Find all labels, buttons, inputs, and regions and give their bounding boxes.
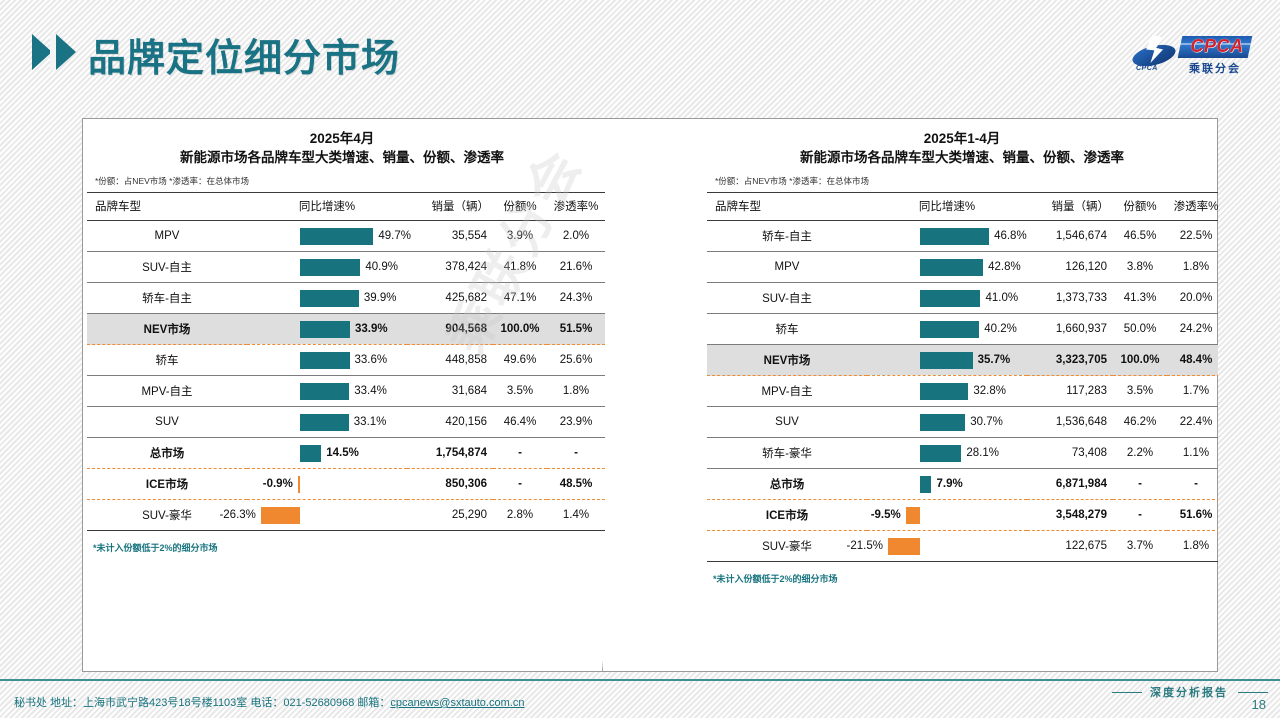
table-footnote: *未计入份额低于2%的细分市场 (87, 531, 597, 554)
table-row: SUV-豪华-26.3%25,2902.8%1.4% (87, 500, 605, 531)
col-header-growth: 同比增速% (247, 193, 407, 221)
cell-growth-bar: 35.7% (867, 345, 1027, 376)
cell-growth-bar: -9.5% (867, 500, 1027, 531)
page-title: 品牌定位细分市场 (88, 27, 400, 82)
cell-volume: 425,682 (407, 283, 493, 314)
cell-share: 3.5% (493, 376, 547, 407)
cell-penetration: 22.5% (1167, 221, 1225, 252)
growth-value-label: 14.5% (326, 446, 359, 461)
growth-value-label: 40.9% (365, 260, 398, 275)
cell-volume: 850,306 (407, 469, 493, 500)
table-note: *份额：占NEV市场 *渗透率：在总体市场 (707, 167, 1217, 192)
cell-volume: 3,323,705 (1027, 345, 1113, 376)
growth-bar (920, 321, 979, 338)
growth-bar (906, 507, 920, 524)
table-row: SUV33.1%420,15646.4%23.9% (87, 407, 605, 438)
cell-penetration: 23.9% (547, 407, 605, 438)
cell-penetration: 1.1% (1167, 438, 1225, 469)
cell-growth-bar: 28.1% (867, 438, 1027, 469)
cell-growth-bar: 30.7% (867, 407, 1027, 438)
growth-value-label: 41.0% (985, 291, 1018, 306)
cell-share: 2.2% (1113, 438, 1167, 469)
growth-value-label: 46.8% (994, 229, 1027, 244)
growth-bar (300, 290, 359, 307)
col-header-volume: 销量（辆） (1027, 193, 1113, 221)
card-april-2025: 2025年4月 新能源市场各品牌车型大类增速、销量、份额、渗透率 *份额：占NE… (82, 118, 698, 672)
cell-penetration: 24.2% (1167, 314, 1225, 345)
cell-volume: 420,156 (407, 407, 493, 438)
growth-value-label: 40.2% (984, 322, 1017, 337)
table-row: SUV-自主40.9%378,42441.8%21.6% (87, 252, 605, 283)
cell-volume: 3,548,279 (1027, 500, 1113, 531)
cell-share: - (493, 469, 547, 500)
footer-email-link[interactable]: cpcanews@sxtauto.com.cn (390, 697, 524, 709)
cell-growth-bar: -0.9% (247, 469, 407, 500)
cell-share: 2.8% (493, 500, 547, 531)
growth-bar (920, 476, 932, 493)
cell-share: 49.6% (493, 345, 547, 376)
cell-model-name: NEV市场 (707, 345, 867, 376)
table-row: 总市场7.9%6,871,984-- (707, 469, 1225, 500)
growth-bar (298, 476, 300, 493)
table-row: MPV49.7%35,5543.9%2.0% (87, 221, 605, 252)
cell-volume: 126,120 (1027, 252, 1113, 283)
table-row: 轿车33.6%448,85849.6%25.6% (87, 345, 605, 376)
table-row: SUV-豪华-21.5%122,6753.7%1.8% (707, 531, 1225, 562)
cell-growth-bar: 40.2% (867, 314, 1027, 345)
cell-share: 46.5% (1113, 221, 1167, 252)
cell-penetration: 1.8% (547, 376, 605, 407)
table-row: 总市场14.5%1,754,874-- (87, 438, 605, 469)
growth-bar (300, 228, 374, 245)
growth-bar (300, 445, 321, 462)
page-number: 18 (1252, 697, 1266, 712)
cell-share: 3.8% (1113, 252, 1167, 283)
col-header-name: 品牌车型 (707, 193, 867, 221)
cpca-logo-mark-sub: CPCA (1136, 65, 1158, 72)
market-table-april: 品牌车型 同比增速% 销量（辆） 份额% 渗透率% MPV49.7%35,554… (87, 192, 605, 531)
table-row: MPV-自主32.8%117,2833.5%1.7% (707, 376, 1225, 407)
card-jan-apr-2025: 2025年1-4月 新能源市场各品牌车型大类增速、销量、份额、渗透率 *份额：占… (602, 118, 1218, 672)
cell-growth-bar: 33.9% (247, 314, 407, 345)
footer-contact-text: 秘书处 地址：上海市武宁路423号18号楼1103室 电话：021-526809… (14, 697, 390, 709)
cell-share: 3.5% (1113, 376, 1167, 407)
table-header-row: 品牌车型 同比增速% 销量（辆） 份额% 渗透率% (707, 193, 1225, 221)
growth-bar (920, 414, 965, 431)
cell-share: 3.9% (493, 221, 547, 252)
cell-model-name: SUV-自主 (87, 252, 247, 283)
cell-model-name: MPV (87, 221, 247, 252)
cell-growth-bar: 33.4% (247, 376, 407, 407)
growth-value-label: 49.7% (378, 229, 411, 244)
cell-share: 41.8% (493, 252, 547, 283)
cell-model-name: 轿车 (707, 314, 867, 345)
growth-value-label: 28.1% (966, 446, 999, 461)
cell-penetration: 1.8% (1167, 252, 1225, 283)
table-title-line2: 新能源市场各品牌车型大类增速、销量、份额、渗透率 (87, 148, 597, 167)
footer-brand: 深度分析报告 (1150, 684, 1228, 700)
cell-volume: 1,660,937 (1027, 314, 1113, 345)
col-header-penetration: 渗透率% (1167, 193, 1225, 221)
cell-volume: 117,283 (1027, 376, 1113, 407)
cell-share: 100.0% (1113, 345, 1167, 376)
cell-volume: 6,871,984 (1027, 469, 1113, 500)
cell-model-name: 轿车-自主 (707, 221, 867, 252)
col-header-growth: 同比增速% (867, 193, 1027, 221)
cell-penetration: 21.6% (547, 252, 605, 283)
cell-growth-bar: 42.8% (867, 252, 1027, 283)
cell-model-name: 轿车-自主 (87, 283, 247, 314)
growth-value-label: 39.9% (364, 291, 397, 306)
cpca-logo-mark-icon: CPCA (1132, 35, 1176, 73)
growth-bar (300, 321, 350, 338)
growth-value-label: 33.4% (354, 384, 387, 399)
cell-model-name: SUV-自主 (707, 283, 867, 314)
growth-bar (300, 414, 349, 431)
cell-model-name: NEV市场 (87, 314, 247, 345)
col-header-name: 品牌车型 (87, 193, 247, 221)
cell-volume: 378,424 (407, 252, 493, 283)
table-row: MPV42.8%126,1203.8%1.8% (707, 252, 1225, 283)
cell-growth-bar: 41.0% (867, 283, 1027, 314)
col-header-share: 份额% (493, 193, 547, 221)
growth-bar (888, 538, 920, 555)
table-row: ICE市场-9.5%3,548,279-51.6% (707, 500, 1225, 531)
cell-penetration: 51.5% (547, 314, 605, 345)
cell-penetration: 1.4% (547, 500, 605, 531)
table-title-line2: 新能源市场各品牌车型大类增速、销量、份额、渗透率 (707, 148, 1217, 167)
cell-volume: 1,536,648 (1027, 407, 1113, 438)
cell-growth-bar: 46.8% (867, 221, 1027, 252)
cell-volume: 31,684 (407, 376, 493, 407)
cell-growth-bar: 7.9% (867, 469, 1027, 500)
cell-model-name: 总市场 (707, 469, 867, 500)
cell-model-name: MPV-自主 (707, 376, 867, 407)
table-row: 轿车-自主39.9%425,68247.1%24.3% (87, 283, 605, 314)
cell-share: 46.4% (493, 407, 547, 438)
cell-growth-bar: 14.5% (247, 438, 407, 469)
cell-share: - (493, 438, 547, 469)
growth-bar (920, 228, 989, 245)
growth-value-label: 30.7% (970, 415, 1003, 430)
cell-volume: 904,568 (407, 314, 493, 345)
market-table-jan-apr: 品牌车型 同比增速% 销量（辆） 份额% 渗透率% 轿车-自主46.8%1,54… (707, 192, 1225, 562)
table-row: SUV-自主41.0%1,373,73341.3%20.0% (707, 283, 1225, 314)
growth-value-label: 33.6% (355, 353, 388, 368)
cell-model-name: MPV (707, 252, 867, 283)
cell-share: - (1113, 469, 1167, 500)
table-title-line1: 2025年1-4月 (707, 119, 1217, 148)
cell-penetration: 48.4% (1167, 345, 1225, 376)
growth-value-label: -0.9% (263, 477, 293, 492)
cell-penetration: 2.0% (547, 221, 605, 252)
growth-bar (920, 352, 973, 369)
cell-growth-bar: 33.6% (247, 345, 407, 376)
cell-growth-bar: 33.1% (247, 407, 407, 438)
table-row: 轿车-自主46.8%1,546,67446.5%22.5% (707, 221, 1225, 252)
table-body-jan-apr: 轿车-自主46.8%1,546,67446.5%22.5%MPV42.8%126… (707, 221, 1225, 562)
cell-volume: 1,754,874 (407, 438, 493, 469)
growth-value-label: 35.7% (978, 353, 1011, 368)
growth-bar (920, 445, 962, 462)
cell-penetration: 25.6% (547, 345, 605, 376)
cell-growth-bar: 49.7% (247, 221, 407, 252)
growth-bar (920, 383, 969, 400)
cell-volume: 122,675 (1027, 531, 1113, 562)
cell-share: - (1113, 500, 1167, 531)
cell-model-name: SUV (707, 407, 867, 438)
growth-value-label: 33.9% (355, 322, 388, 337)
table-header-row: 品牌车型 同比增速% 销量（辆） 份额% 渗透率% (87, 193, 605, 221)
cell-model-name: 轿车 (87, 345, 247, 376)
cell-model-name: ICE市场 (707, 500, 867, 531)
cell-volume: 35,554 (407, 221, 493, 252)
growth-value-label: 33.1% (354, 415, 387, 430)
footer-contact: 秘书处 地址：上海市武宁路423号18号楼1103室 电话：021-526809… (14, 694, 524, 710)
cell-model-name: 总市场 (87, 438, 247, 469)
cpca-logo-chinese-name: 乘联分会 (1180, 60, 1250, 76)
cell-model-name: SUV (87, 407, 247, 438)
growth-value-label: -21.5% (847, 539, 883, 554)
growth-value-label: -9.5% (871, 508, 901, 523)
growth-bar (261, 507, 300, 524)
cell-penetration: 20.0% (1167, 283, 1225, 314)
cell-penetration: 1.7% (1167, 376, 1225, 407)
table-row: ICE市场-0.9%850,306-48.5% (87, 469, 605, 500)
cell-volume: 448,858 (407, 345, 493, 376)
footer-divider (0, 679, 1280, 681)
table-title-line1: 2025年4月 (87, 119, 597, 148)
cell-share: 100.0% (493, 314, 547, 345)
growth-bar (300, 383, 349, 400)
growth-bar (920, 259, 983, 276)
cell-penetration: - (547, 438, 605, 469)
table-body-april: MPV49.7%35,5543.9%2.0%SUV-自主40.9%378,424… (87, 221, 605, 531)
growth-value-label: 42.8% (988, 260, 1021, 275)
cell-share: 3.7% (1113, 531, 1167, 562)
cell-growth-bar: -26.3% (247, 500, 407, 531)
table-row: MPV-自主33.4%31,6843.5%1.8% (87, 376, 605, 407)
cell-share: 41.3% (1113, 283, 1167, 314)
cell-growth-bar: -21.5% (867, 531, 1027, 562)
table-row: 轿车40.2%1,660,93750.0%24.2% (707, 314, 1225, 345)
growth-value-label: 7.9% (936, 477, 962, 492)
cell-share: 47.1% (493, 283, 547, 314)
col-header-share: 份额% (1113, 193, 1167, 221)
cell-volume: 25,290 (407, 500, 493, 531)
cell-volume: 73,408 (1027, 438, 1113, 469)
slide-header: 品牌定位细分市场 CPCA CPCA 乘联分会 (0, 0, 1280, 92)
cell-share: 46.2% (1113, 407, 1167, 438)
col-header-penetration: 渗透率% (547, 193, 605, 221)
growth-bar (920, 290, 981, 307)
col-header-volume: 销量（辆） (407, 193, 493, 221)
double-chevron-right-icon (32, 34, 90, 70)
cpca-logo: CPCA CPCA 乘联分会 (1132, 33, 1250, 77)
growth-bar (300, 352, 350, 369)
cell-penetration: 1.8% (1167, 531, 1225, 562)
cell-penetration: 24.3% (547, 283, 605, 314)
cell-share: 50.0% (1113, 314, 1167, 345)
growth-bar (300, 259, 361, 276)
cell-model-name: ICE市场 (87, 469, 247, 500)
cell-model-name: 轿车-豪华 (707, 438, 867, 469)
table-note: *份额：占NEV市场 *渗透率：在总体市场 (87, 167, 597, 192)
growth-value-label: -26.3% (219, 508, 255, 523)
cell-penetration: 48.5% (547, 469, 605, 500)
cell-penetration: 51.6% (1167, 500, 1225, 531)
table-row: SUV30.7%1,536,64846.2%22.4% (707, 407, 1225, 438)
cell-volume: 1,373,733 (1027, 283, 1113, 314)
table-row: 轿车-豪华28.1%73,4082.2%1.1% (707, 438, 1225, 469)
cell-growth-bar: 32.8% (867, 376, 1027, 407)
cell-growth-bar: 40.9% (247, 252, 407, 283)
table-row: NEV市场33.9%904,568100.0%51.5% (87, 314, 605, 345)
growth-value-label: 32.8% (973, 384, 1006, 399)
cell-volume: 1,546,674 (1027, 221, 1113, 252)
cell-penetration: 22.4% (1167, 407, 1225, 438)
cell-growth-bar: 39.9% (247, 283, 407, 314)
cell-model-name: MPV-自主 (87, 376, 247, 407)
table-row: NEV市场35.7%3,323,705100.0%48.4% (707, 345, 1225, 376)
cpca-logo-wordmark: CPCA (1184, 36, 1250, 57)
cell-model-name: SUV-豪华 (707, 531, 867, 562)
table-footnote: *未计入份额低于2%的细分市场 (707, 562, 1217, 585)
cell-penetration: - (1167, 469, 1225, 500)
